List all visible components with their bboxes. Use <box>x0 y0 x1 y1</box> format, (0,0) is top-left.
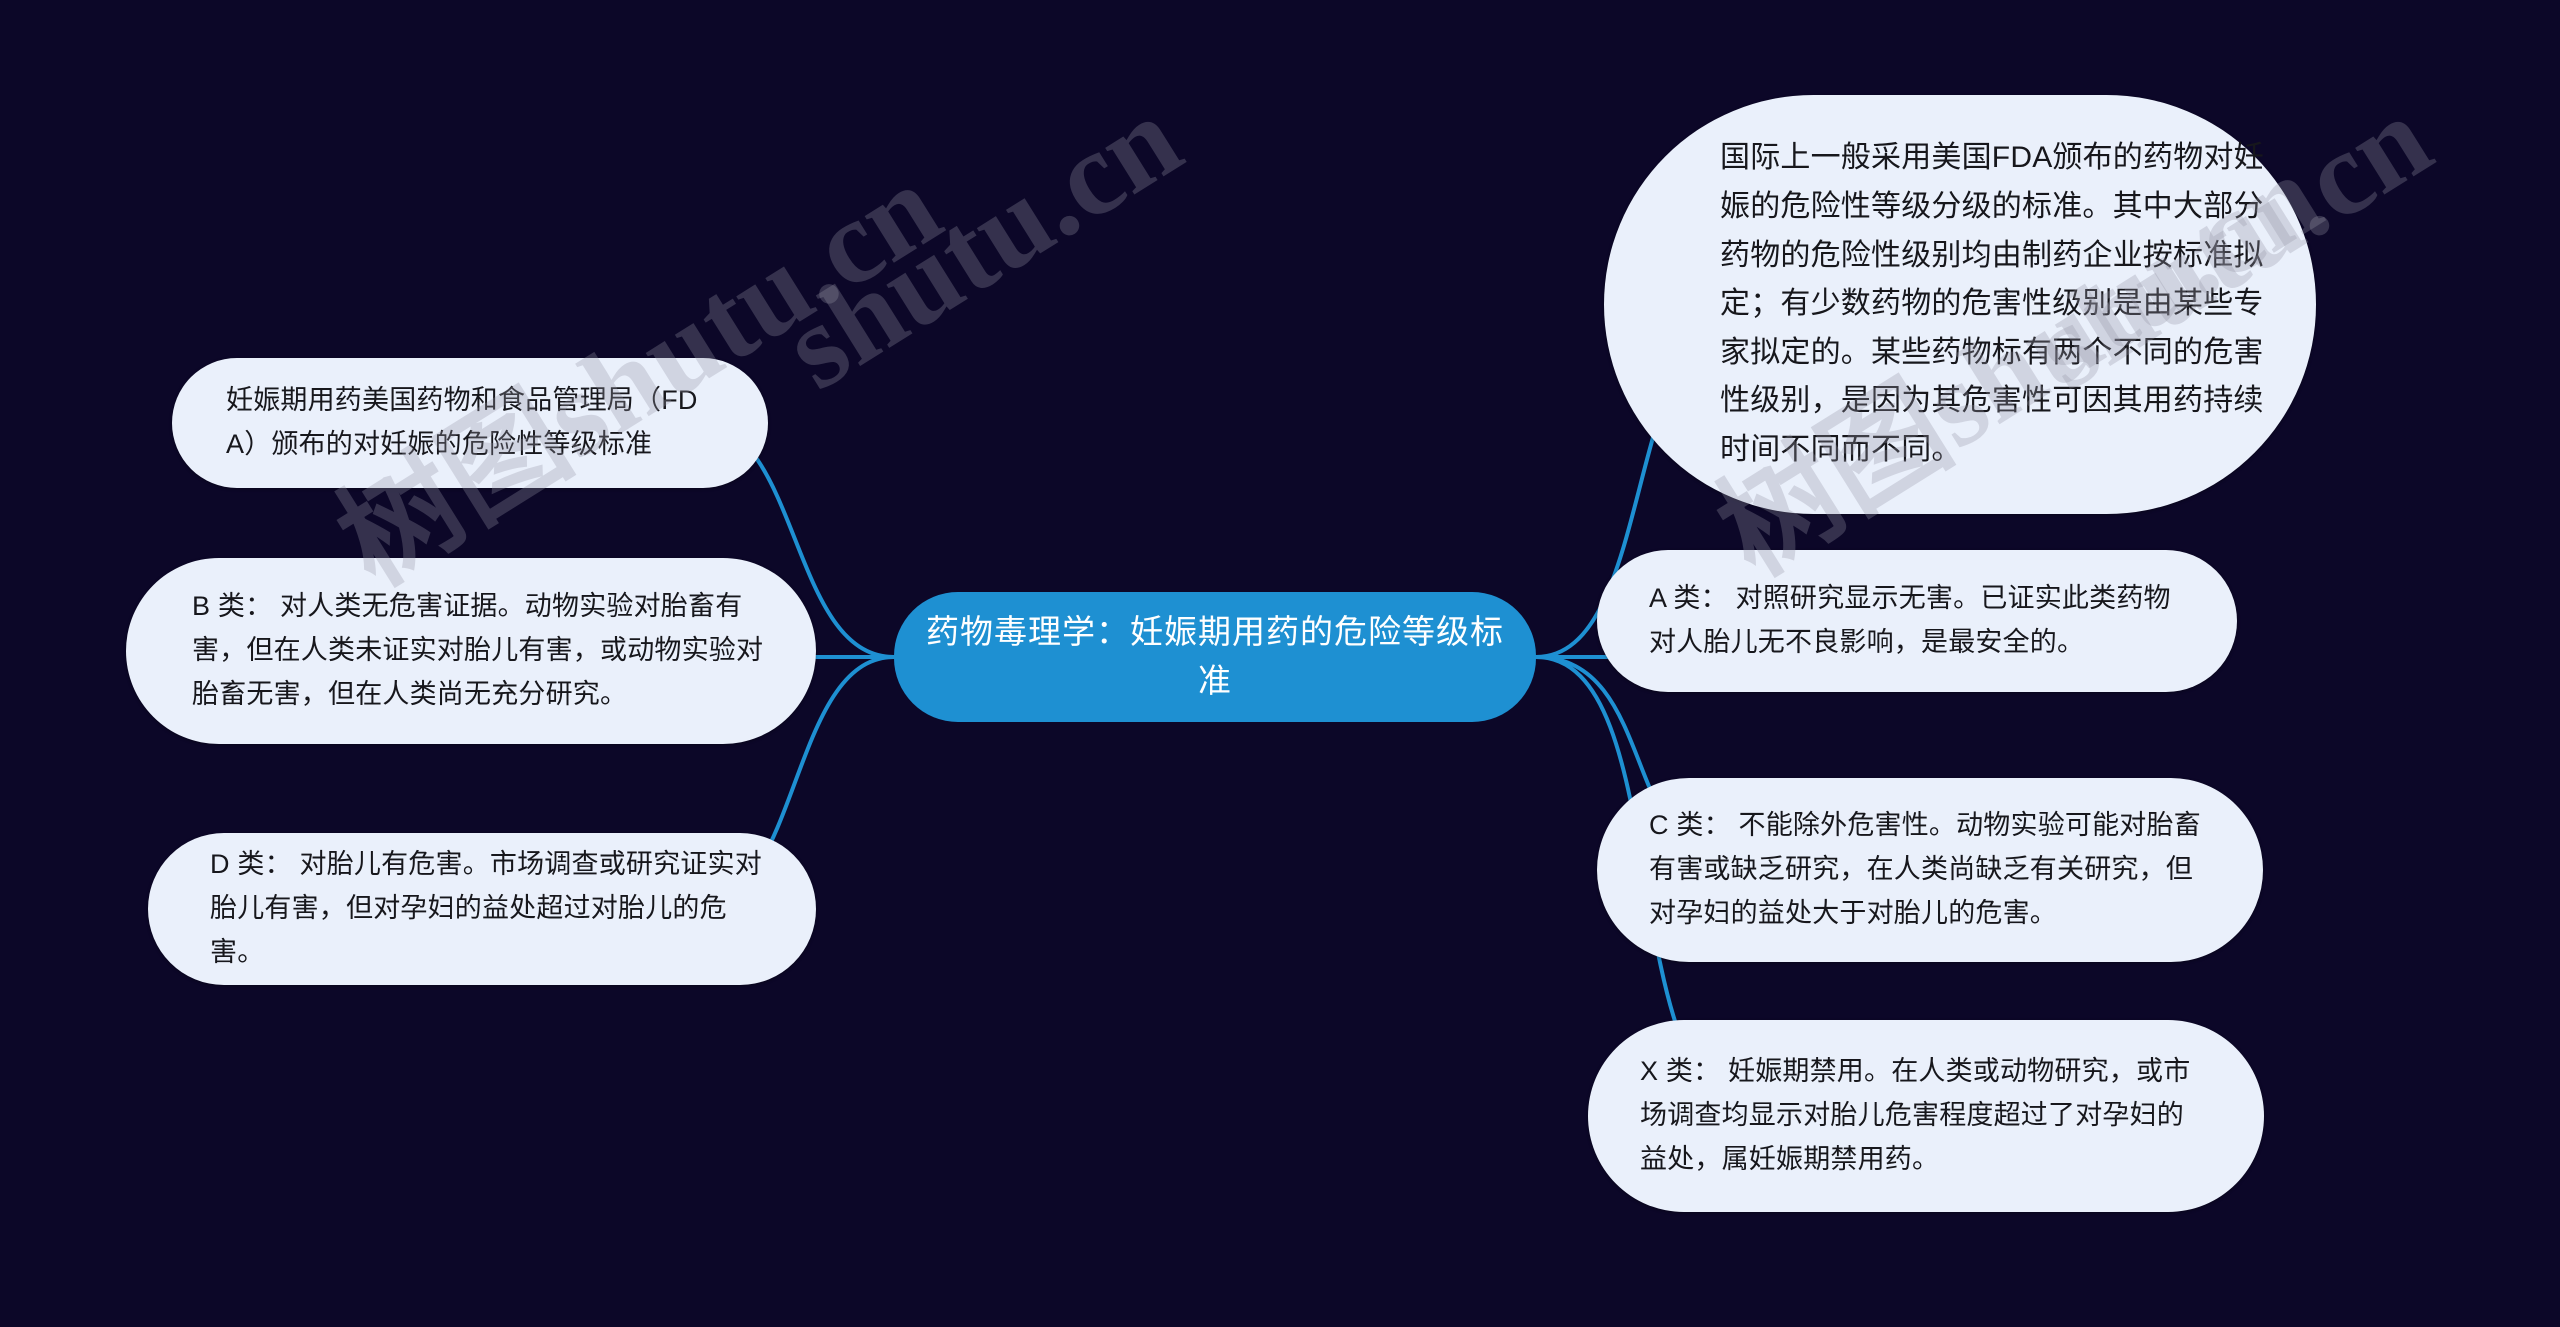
node-intro-label: 国际上一般采用美国FDA颁布的药物对妊娠的危险性等级分级的标准。其中大部分药物的… <box>1720 134 2264 474</box>
node-class-a[interactable]: A 类： 对照研究显示无害。已证实此类药物对人胎儿无不良影响，是最安全的。 <box>1597 550 2237 692</box>
node-intro[interactable]: 国际上一般采用美国FDA颁布的药物对妊娠的危险性等级分级的标准。其中大部分药物的… <box>1604 95 2316 514</box>
node-class-b[interactable]: B 类： 对人类无危害证据。动物实验对胎畜有害，但在人类未证实对胎儿有害，或动物… <box>126 558 816 744</box>
node-class-b-label: B 类： 对人类无危害证据。动物实验对胎畜有害，但在人类未证实对胎儿有害，或动物… <box>192 585 764 716</box>
node-class-c-label: C 类： 不能除外危害性。动物实验可能对胎畜有害或缺乏研究，在人类尚缺乏有关研究… <box>1649 804 2207 935</box>
node-class-x-label: X 类： 妊娠期禁用。在人类或动物研究，或市场调查均显示对胎儿危害程度超过了对孕… <box>1640 1050 2208 1181</box>
watermark-2: shutu.cn <box>760 68 1204 417</box>
node-class-d[interactable]: D 类： 对胎儿有危害。市场调查或研究证实对胎儿有害，但对孕妇的益处超过对胎儿的… <box>148 833 816 985</box>
node-class-a-label: A 类： 对照研究显示无害。已证实此类药物对人胎儿无不良影响，是最安全的。 <box>1649 577 2181 664</box>
node-fda[interactable]: 妊娠期用药美国药物和食品管理局（FDA）颁布的对妊娠的危险性等级标准 <box>172 358 768 488</box>
node-center-topic[interactable]: 药物毒理学：妊娠期用药的危险等级标准 <box>894 592 1536 722</box>
node-class-d-label: D 类： 对胎儿有危害。市场调查或研究证实对胎儿有害，但对孕妇的益处超过对胎儿的… <box>210 843 766 974</box>
node-fda-label: 妊娠期用药美国药物和食品管理局（FDA）颁布的对妊娠的危险性等级标准 <box>226 379 718 466</box>
node-class-x[interactable]: X 类： 妊娠期禁用。在人类或动物研究，或市场调查均显示对胎儿危害程度超过了对孕… <box>1588 1020 2264 1212</box>
mindmap-canvas: 树图shutu.cn shutu.cn 树图shutu.cn shutu.cn … <box>0 0 2560 1327</box>
node-class-c[interactable]: C 类： 不能除外危害性。动物实验可能对胎畜有害或缺乏研究，在人类尚缺乏有关研究… <box>1597 778 2263 962</box>
node-center-label: 药物毒理学：妊娠期用药的危险等级标准 <box>924 608 1506 706</box>
